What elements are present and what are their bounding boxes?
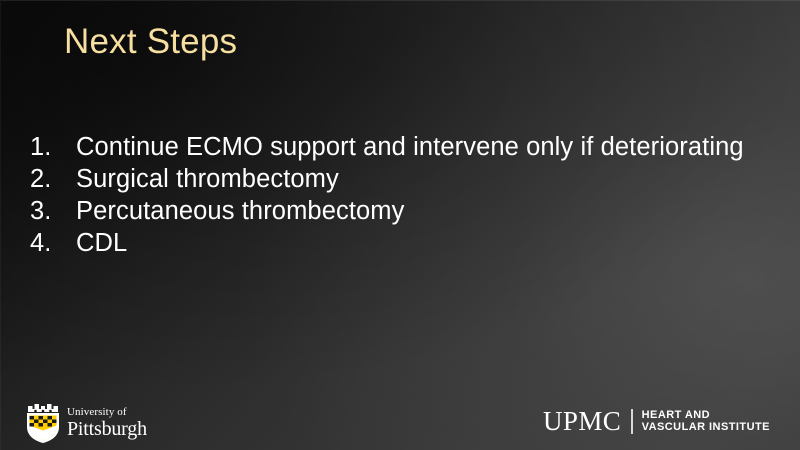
pitt-shield-icon [26,403,60,444]
numbered-list: 1. Continue ECMO support and intervene o… [30,131,790,259]
list-item: 4. CDL [30,227,790,259]
list-item: 1. Continue ECMO support and intervene o… [30,131,790,163]
list-item-text: CDL [76,227,127,259]
pitt-wordmark-line2: Pittsburgh [67,419,147,439]
upmc-subbrand-line1: HEART AND [642,409,770,422]
upmc-subbrand-line2: VASCULAR INSTITUTE [642,421,770,434]
slide-title: Next Steps [64,19,237,65]
pitt-wordmark: University of Pittsburgh [67,407,147,439]
list-item-number: 3. [30,195,76,227]
list-item-number: 1. [30,131,76,163]
presentation-slide: Next Steps 1. Continue ECMO support and … [0,0,800,450]
upmc-wordmark: UPMC [543,407,621,435]
upmc-divider [631,409,633,434]
upmc-heart-and-vascular-institute-logo: UPMC HEART AND VASCULAR INSTITUTE [543,407,770,435]
pitt-wordmark-line1: University of [67,407,147,418]
list-item: 2. Surgical thrombectomy [30,163,790,195]
list-item-text: Continue ECMO support and intervene only… [76,131,744,163]
list-item: 3. Percutaneous thrombectomy [30,195,790,227]
list-item-number: 2. [30,163,76,195]
list-item-text: Surgical thrombectomy [76,163,339,195]
list-item-text: Percutaneous thrombectomy [76,195,405,227]
list-item-number: 4. [30,227,76,259]
upmc-subbrand: HEART AND VASCULAR INSTITUTE [642,409,770,434]
university-of-pittsburgh-logo: University of Pittsburgh [26,401,147,445]
